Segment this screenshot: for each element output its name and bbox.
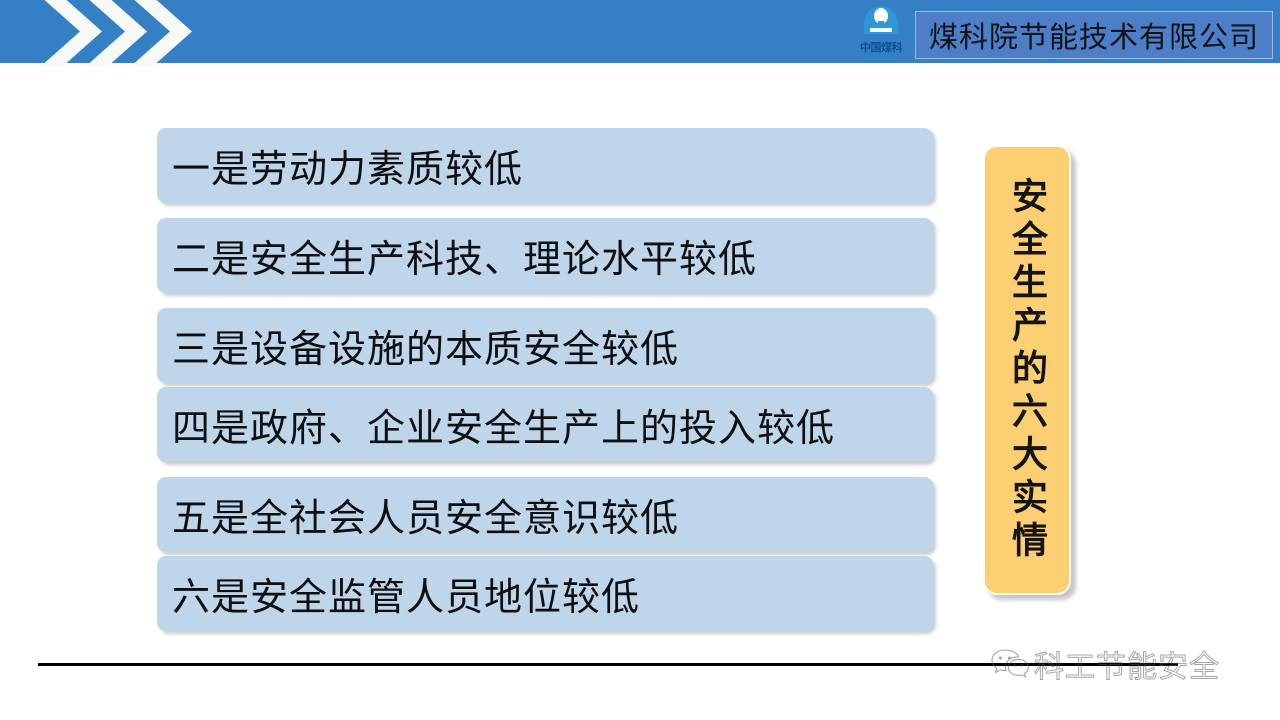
chevron-decoration <box>40 0 220 63</box>
wechat-icon <box>990 647 1030 681</box>
vertical-callout-box[interactable]: 安全生产的六大实情 <box>983 145 1071 595</box>
list-item-label: 二是安全生产科技、理论水平较低 <box>172 228 757 283</box>
slide-canvas: 中国煤科 煤科院节能技术有限公司 一是劳动力素质较低 二是安全生产科技、理论水平… <box>0 0 1280 720</box>
list-item[interactable]: 四是政府、企业安全生产上的投入较低 <box>157 387 933 462</box>
list-item-label: 三是设备设施的本质安全较低 <box>172 318 679 373</box>
chevron-right-icon <box>130 0 200 67</box>
list-item-label: 四是政府、企业安全生产上的投入较低 <box>172 397 835 452</box>
header-bar: 中国煤科 煤科院节能技术有限公司 <box>0 0 1280 63</box>
watermark-text: 科工节能安全 <box>1034 642 1220 686</box>
list-item[interactable]: 五是全社会人员安全意识较低 <box>157 477 933 552</box>
list-item[interactable]: 二是安全生产科技、理论水平较低 <box>157 218 933 293</box>
company-name-box: 煤科院节能技术有限公司 <box>915 11 1273 59</box>
list-item-label: 六是安全监管人员地位较低 <box>172 566 640 621</box>
company-name: 煤科院节能技术有限公司 <box>929 14 1259 56</box>
watermark: 科工节能安全 <box>990 641 1220 687</box>
list-item-label: 一是劳动力素质较低 <box>172 138 523 193</box>
vertical-callout-label: 安全生产的六大实情 <box>1009 177 1045 564</box>
company-logo: 中国煤科 <box>845 4 917 62</box>
china-coal-emblem-icon <box>858 4 904 38</box>
list-item[interactable]: 一是劳动力素质较低 <box>157 128 933 203</box>
list-item-label: 五是全社会人员安全意识较低 <box>172 487 679 542</box>
list-item[interactable]: 六是安全监管人员地位较低 <box>157 556 933 631</box>
logo-text: 中国煤科 <box>860 39 902 55</box>
list-item[interactable]: 三是设备设施的本质安全较低 <box>157 308 933 383</box>
bullet-list: 一是劳动力素质较低 二是安全生产科技、理论水平较低 三是设备设施的本质安全较低 … <box>157 128 933 635</box>
